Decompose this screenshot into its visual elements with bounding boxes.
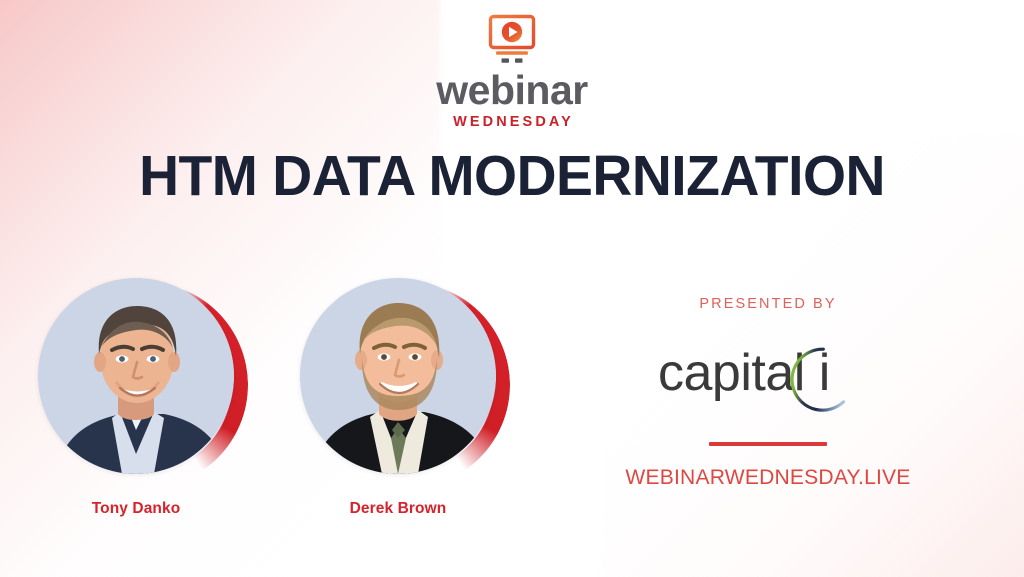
headshot-derek-brown	[300, 278, 496, 474]
avatar	[38, 278, 234, 474]
speaker-name: Tony Danko	[38, 500, 234, 518]
speaker-list: Tony Danko	[38, 278, 506, 518]
capital-i-logo: capital i	[620, 334, 916, 412]
divider	[709, 442, 827, 446]
speaker-card: Derek Brown	[300, 278, 506, 518]
speaker-name: Derek Brown	[300, 500, 496, 518]
avatar	[300, 278, 496, 474]
presenter-panel: PRESENTED BY capital i	[620, 296, 916, 490]
speaker-portrait-wrap	[300, 278, 506, 484]
speaker-card: Tony Danko	[38, 278, 244, 518]
webinar-wednesday-logo: webinar WEDNESDAY	[0, 14, 1024, 130]
headshot-tony-danko	[38, 278, 234, 474]
page-title: HTM DATA MODERNIZATION	[15, 143, 1008, 209]
capital-i-arc-icon: capital i	[656, 334, 880, 412]
svg-text:capital i: capital i	[658, 344, 830, 402]
webinar-monitor-play-icon	[480, 14, 544, 69]
brand-wordmark: webinar	[436, 70, 587, 112]
site-url: WEBINARWEDNESDAY.LIVE	[623, 465, 913, 490]
presented-by-label: PRESENTED BY	[620, 296, 916, 312]
webinar-title-slide: webinar WEDNESDAY HTM DATA MODERNIZATION	[0, 0, 1024, 577]
speaker-portrait-wrap	[38, 278, 244, 484]
brand-subtitle: WEDNESDAY	[453, 114, 574, 130]
